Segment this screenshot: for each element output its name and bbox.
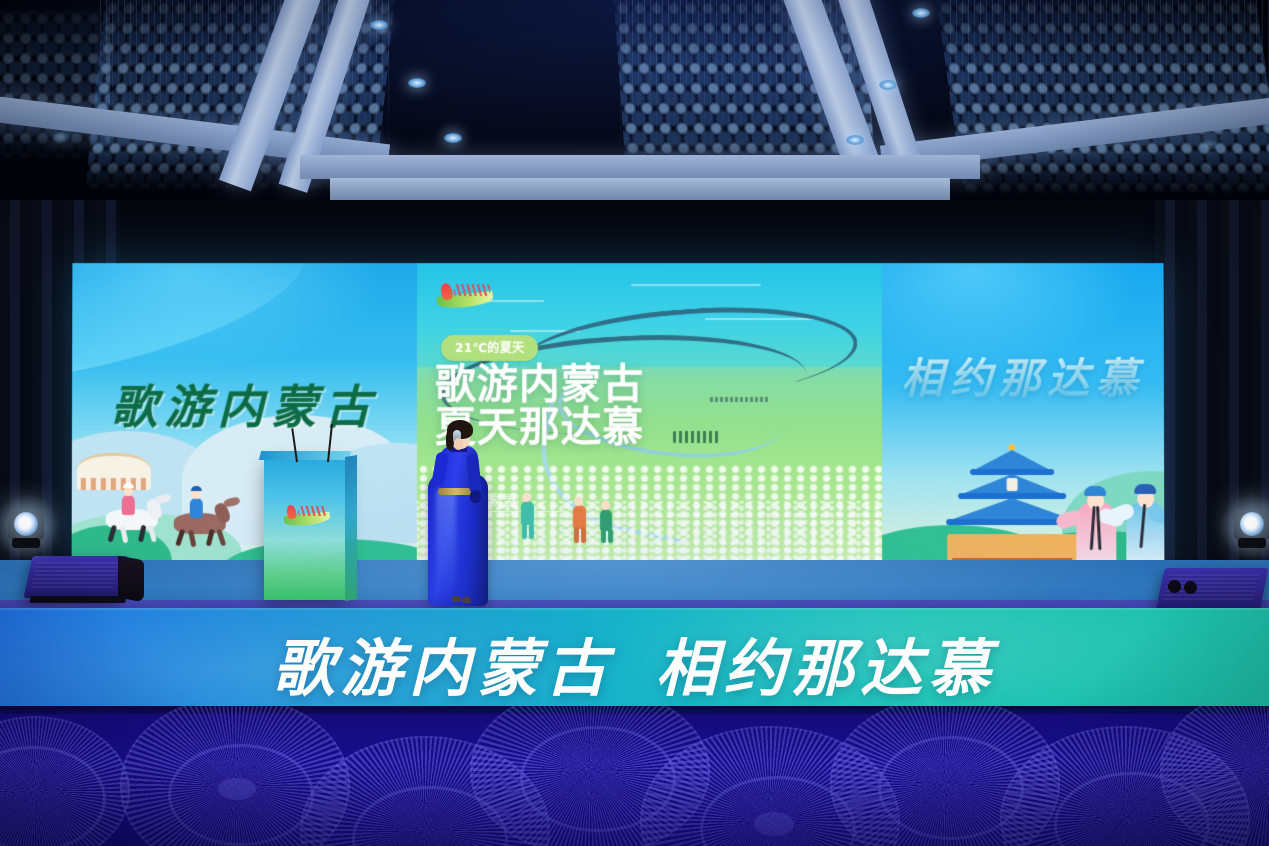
wedge-port-icon <box>1184 581 1197 594</box>
banner-text: 歌游内蒙古相约那达慕 <box>0 618 1269 708</box>
crystal-bead-cluster-right <box>936 0 1269 195</box>
ceiling-downlight-icon <box>52 132 70 142</box>
logo-tulip-shape <box>286 504 298 520</box>
photo-watermark-text <box>710 397 770 402</box>
singer-shoe-left <box>452 596 461 602</box>
ceiling-downlight-icon <box>846 135 864 145</box>
female-singer <box>424 416 496 606</box>
nadam-event-logo <box>435 281 495 311</box>
stage-monitor-wedge-right <box>1160 568 1264 612</box>
right-panel-headline: 相约那达慕 <box>882 345 1164 406</box>
stage-event-photo: 歌游内蒙古 <box>0 0 1269 846</box>
illustrated-figure-teal <box>515 493 543 543</box>
led-panel-seam <box>535 263 536 568</box>
singer-hand-lower <box>470 490 481 503</box>
ceiling <box>0 0 1269 205</box>
carpet-shading <box>0 706 1269 846</box>
led-panel-right: 相约那达慕 <box>882 263 1165 568</box>
lectern-top-surface <box>259 451 351 460</box>
temperature-badge: 21℃的夏天 <box>441 335 538 361</box>
yurt-illustration <box>77 453 151 490</box>
logo-script-shape <box>454 284 490 296</box>
singer-shoe-right <box>462 597 471 603</box>
led-panel-seam <box>717 263 718 568</box>
wedge-base <box>29 596 126 603</box>
led-panel-left: 歌游内蒙古 <box>72 263 418 568</box>
stage-front-banner: 歌游内蒙古相约那达慕 <box>0 608 1269 708</box>
ceiling-downlight-icon <box>912 8 930 18</box>
patterned-carpet <box>0 706 1269 846</box>
ceiling-downlight-icon <box>1200 140 1218 150</box>
singer-deel-sheen <box>436 486 456 598</box>
light-base <box>1238 538 1266 548</box>
illustrated-figure-orange <box>567 497 595 547</box>
ceiling-downlight-icon <box>444 133 462 143</box>
singer-hand <box>454 438 463 450</box>
wedge-port-icon <box>1168 580 1181 593</box>
distant-herd <box>673 431 719 443</box>
banner-text-right: 相约那达慕 <box>656 632 997 705</box>
illustrated-figure-green <box>595 501 621 547</box>
horse-rider-white <box>100 491 170 553</box>
led-video-wall: 歌游内蒙古 <box>72 263 1165 568</box>
banner-text-left: 歌游内蒙古 <box>272 632 613 705</box>
ceiling-downlight-icon <box>879 80 897 90</box>
lectern-side-panel <box>345 455 357 601</box>
stage-monitor-wedge-left <box>28 556 124 598</box>
ceiling-downlight-icon <box>370 20 388 30</box>
lectern-logo <box>282 504 332 528</box>
temple-of-heaven-illustration <box>937 448 1087 568</box>
ceiling-beam-cross <box>300 155 980 179</box>
wedge-grille <box>31 562 119 588</box>
light-base <box>12 538 40 548</box>
moving-head-light-left <box>8 488 48 550</box>
logo-script-shape <box>298 506 327 516</box>
center-title-line1: 歌游内蒙古 <box>435 360 644 408</box>
light-lens-icon <box>14 512 38 536</box>
horse-rider-brown <box>170 495 246 557</box>
peking-opera-figure-blue <box>1118 472 1164 568</box>
ceiling-downlight-icon <box>408 78 426 88</box>
left-panel-headline: 歌游内蒙古 <box>72 371 417 437</box>
moving-head-light-right <box>1234 488 1269 550</box>
light-lens-icon <box>1240 512 1264 536</box>
speaker-lectern <box>264 458 346 600</box>
